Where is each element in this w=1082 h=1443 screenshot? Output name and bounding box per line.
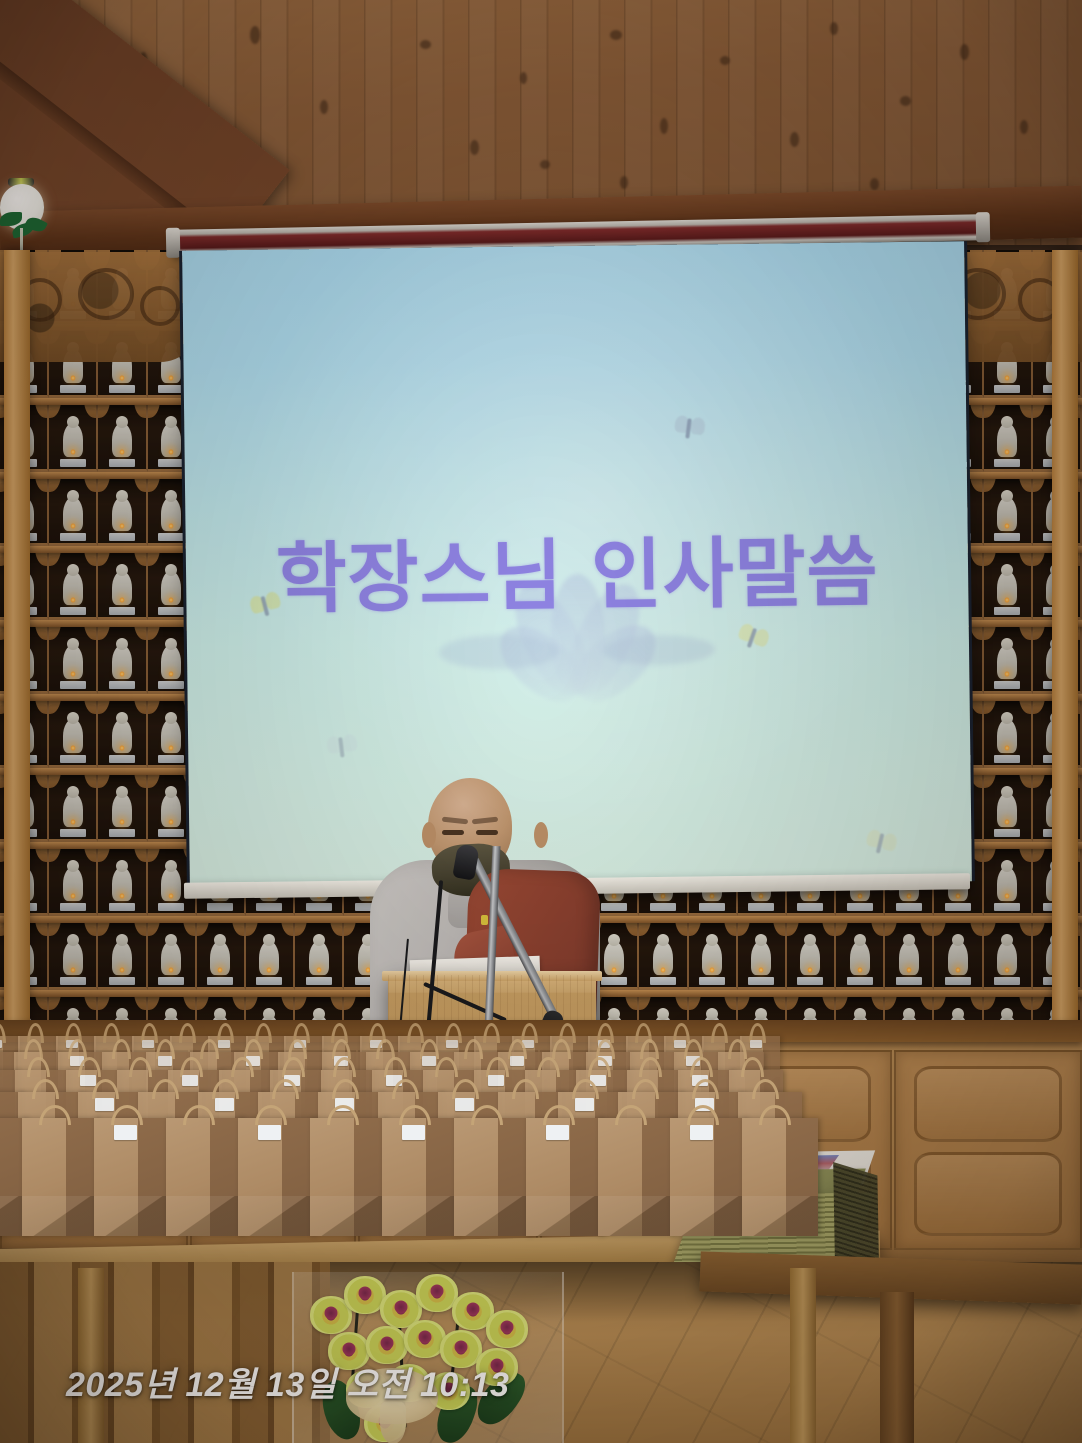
name-plaque bbox=[601, 903, 627, 911]
memorial-niche bbox=[197, 916, 246, 990]
name-plaque bbox=[256, 903, 282, 911]
wall-pillar-right bbox=[1052, 250, 1078, 1040]
candle-light-icon bbox=[119, 375, 124, 381]
name-plaque bbox=[109, 459, 135, 467]
candle-light-icon bbox=[956, 967, 961, 973]
candle-light-icon bbox=[119, 523, 124, 529]
name-plaque bbox=[109, 755, 135, 763]
slide-title: 학장스님 인사말씀 bbox=[185, 509, 968, 630]
name-plaque bbox=[158, 459, 184, 467]
name-plaque bbox=[256, 977, 282, 985]
memorial-niche bbox=[98, 620, 147, 694]
name-plaque bbox=[994, 829, 1020, 837]
memorial-niche bbox=[49, 842, 98, 916]
candle-light-icon bbox=[857, 967, 862, 973]
candle-light-icon bbox=[1005, 597, 1010, 603]
bag-name-label bbox=[258, 1125, 281, 1140]
bag-name-label bbox=[402, 1125, 425, 1140]
memorial-niche bbox=[984, 546, 1033, 620]
candle-light-icon bbox=[70, 745, 75, 751]
candle-light-icon bbox=[611, 967, 616, 973]
candle-light-icon bbox=[119, 745, 124, 751]
stack-side-edges bbox=[833, 1162, 879, 1272]
bag-name-label bbox=[750, 1040, 762, 1048]
name-plaque bbox=[109, 681, 135, 689]
bag-name-label bbox=[142, 1040, 154, 1048]
name-plaque bbox=[109, 829, 135, 837]
bag-bottom-fold bbox=[742, 1196, 818, 1236]
name-plaque bbox=[994, 533, 1020, 541]
candle-light-icon bbox=[611, 893, 616, 899]
bag-name-label bbox=[114, 1125, 137, 1140]
name-plaque bbox=[994, 681, 1020, 689]
gift-bag bbox=[526, 1118, 602, 1236]
gift-bag bbox=[598, 1118, 674, 1236]
memorial-niche bbox=[295, 916, 344, 990]
name-plaque bbox=[699, 977, 725, 985]
name-plaque bbox=[60, 977, 86, 985]
candle-light-icon bbox=[1005, 745, 1010, 751]
candle-light-icon bbox=[710, 893, 715, 899]
memorial-niche bbox=[984, 842, 1033, 916]
name-plaque bbox=[650, 903, 676, 911]
name-plaque bbox=[994, 385, 1020, 393]
candle-light-icon bbox=[119, 449, 124, 455]
candle-light-icon bbox=[906, 967, 911, 973]
name-plaque bbox=[207, 977, 233, 985]
candle-light-icon bbox=[1005, 893, 1010, 899]
memorial-niche bbox=[984, 916, 1033, 990]
name-plaque bbox=[60, 459, 86, 467]
memorial-niche bbox=[98, 842, 147, 916]
bag-name-label bbox=[422, 1056, 436, 1065]
memorial-niche bbox=[984, 620, 1033, 694]
candle-light-icon bbox=[119, 819, 124, 825]
name-plaque bbox=[60, 829, 86, 837]
bag-name-label bbox=[690, 1125, 713, 1140]
candle-light-icon bbox=[906, 893, 911, 899]
candle-light-icon bbox=[218, 967, 223, 973]
name-plaque bbox=[158, 903, 184, 911]
candle-light-icon bbox=[119, 597, 124, 603]
candle-light-icon bbox=[70, 967, 75, 973]
name-plaque bbox=[945, 977, 971, 985]
name-plaque bbox=[109, 533, 135, 541]
name-plaque bbox=[109, 903, 135, 911]
housing-end-cap-right bbox=[976, 212, 991, 242]
memorial-niche bbox=[98, 694, 147, 768]
gift-bag bbox=[238, 1118, 314, 1236]
candle-light-icon bbox=[660, 893, 665, 899]
name-plaque bbox=[306, 977, 332, 985]
memorial-niche bbox=[49, 398, 98, 472]
name-plaque bbox=[994, 977, 1020, 985]
bag-name-label bbox=[182, 1075, 198, 1086]
bag-name-label bbox=[674, 1040, 686, 1048]
gift-bag bbox=[742, 1118, 818, 1236]
candle-light-icon bbox=[857, 893, 862, 899]
bag-bottom-fold bbox=[310, 1196, 386, 1236]
bouquet-ribbon-tail bbox=[380, 1402, 406, 1443]
memorial-niche bbox=[49, 546, 98, 620]
name-plaque bbox=[650, 977, 676, 985]
name-plaque bbox=[207, 903, 233, 911]
gift-bag bbox=[670, 1118, 746, 1236]
memorial-niche bbox=[98, 916, 147, 990]
candle-light-icon bbox=[70, 819, 75, 825]
candle-light-icon bbox=[1005, 967, 1010, 973]
bag-bottom-fold bbox=[238, 1196, 314, 1236]
carved-crest-left bbox=[0, 252, 200, 362]
memorial-niche bbox=[836, 916, 885, 990]
candle-light-icon bbox=[759, 967, 764, 973]
memorial-niche bbox=[885, 916, 934, 990]
name-plaque bbox=[109, 977, 135, 985]
name-plaque bbox=[699, 903, 725, 911]
bag-name-label bbox=[455, 1098, 474, 1111]
gift-bag bbox=[454, 1118, 530, 1236]
memorial-niche bbox=[49, 768, 98, 842]
bag-name-label bbox=[488, 1075, 504, 1086]
housing-end-cap-left bbox=[166, 228, 181, 258]
name-plaque bbox=[847, 903, 873, 911]
candle-light-icon bbox=[169, 745, 174, 751]
bag-name-label bbox=[95, 1098, 114, 1111]
bag-bottom-fold bbox=[454, 1196, 530, 1236]
memorial-niche bbox=[49, 472, 98, 546]
name-plaque bbox=[60, 385, 86, 393]
name-plaque bbox=[896, 903, 922, 911]
name-plaque bbox=[797, 977, 823, 985]
name-plaque bbox=[994, 607, 1020, 615]
bag-name-label bbox=[546, 1125, 569, 1140]
memorial-niche bbox=[49, 620, 98, 694]
candle-light-icon bbox=[169, 597, 174, 603]
memorial-niche bbox=[787, 916, 836, 990]
memorial-niche bbox=[984, 768, 1033, 842]
name-plaque bbox=[306, 903, 332, 911]
candle-light-icon bbox=[70, 449, 75, 455]
candle-light-icon bbox=[1005, 523, 1010, 529]
bag-name-label bbox=[80, 1075, 96, 1086]
name-plaque bbox=[158, 607, 184, 615]
cabinet-door bbox=[894, 1050, 1082, 1250]
candle-light-icon bbox=[169, 671, 174, 677]
gift-table-leg bbox=[78, 1268, 104, 1443]
name-plaque bbox=[748, 903, 774, 911]
name-plaque bbox=[60, 607, 86, 615]
name-plaque bbox=[158, 977, 184, 985]
name-plaque bbox=[158, 533, 184, 541]
memorial-niche bbox=[98, 472, 147, 546]
gift-bag-field bbox=[0, 1036, 760, 1266]
candle-light-icon bbox=[759, 893, 764, 899]
candle-light-icon bbox=[70, 523, 75, 529]
bag-bottom-fold bbox=[382, 1196, 458, 1236]
candle-light-icon bbox=[808, 893, 813, 899]
memorial-niche bbox=[934, 916, 983, 990]
candle-light-icon bbox=[119, 967, 124, 973]
bag-name-label bbox=[218, 1040, 230, 1048]
bag-name-label bbox=[446, 1040, 458, 1048]
candle-light-icon bbox=[1005, 671, 1010, 677]
memorial-niche bbox=[246, 916, 295, 990]
candle-light-icon bbox=[956, 893, 961, 899]
name-plaque bbox=[945, 903, 971, 911]
timestamp-overlay: 2025년 12월 13일 오전 10:13 bbox=[66, 1357, 509, 1406]
bag-bottom-fold bbox=[526, 1196, 602, 1236]
lotus-lantern bbox=[0, 178, 46, 240]
gift-bag bbox=[310, 1118, 386, 1236]
gift-bag bbox=[166, 1118, 242, 1236]
memorial-niche bbox=[689, 916, 738, 990]
candle-light-icon bbox=[70, 375, 75, 381]
name-plaque bbox=[158, 829, 184, 837]
candle-light-icon bbox=[119, 671, 124, 677]
candle-light-icon bbox=[808, 967, 813, 973]
bag-bottom-fold bbox=[22, 1196, 98, 1236]
gift-bag bbox=[94, 1118, 170, 1236]
bag-name-label bbox=[510, 1056, 524, 1065]
candle-light-icon bbox=[169, 449, 174, 455]
orchid-flower bbox=[486, 1310, 528, 1348]
candle-light-icon bbox=[169, 375, 174, 381]
wall-pillar-left bbox=[4, 250, 30, 1040]
candle-light-icon bbox=[267, 967, 272, 973]
candle-light-icon bbox=[660, 967, 665, 973]
candle-light-icon bbox=[169, 893, 174, 899]
candle-light-icon bbox=[169, 819, 174, 825]
name-plaque bbox=[158, 755, 184, 763]
name-plaque bbox=[158, 681, 184, 689]
monk-ear-right bbox=[534, 822, 548, 848]
gift-bag bbox=[22, 1118, 98, 1236]
candle-light-icon bbox=[70, 893, 75, 899]
name-plaque bbox=[158, 385, 184, 393]
bag-name-label bbox=[575, 1098, 594, 1111]
bag-name-label bbox=[215, 1098, 234, 1111]
memorial-niche bbox=[639, 916, 688, 990]
candle-light-icon bbox=[169, 967, 174, 973]
memorial-niche bbox=[984, 398, 1033, 472]
photo-canvas: 학장스님 인사말씀 bbox=[0, 0, 1082, 1443]
memorial-niche bbox=[98, 398, 147, 472]
gift-bag bbox=[382, 1118, 458, 1236]
bag-bottom-fold bbox=[598, 1196, 674, 1236]
memorial-niche bbox=[148, 916, 197, 990]
candle-light-icon bbox=[1005, 819, 1010, 825]
bag-bottom-fold bbox=[166, 1196, 242, 1236]
candle-light-icon bbox=[1005, 449, 1010, 455]
name-plaque bbox=[601, 977, 627, 985]
memorial-niche bbox=[98, 546, 147, 620]
front-railing bbox=[0, 1262, 330, 1443]
monk-ear-left bbox=[422, 822, 436, 848]
side-table-leg bbox=[880, 1292, 914, 1443]
name-plaque bbox=[896, 977, 922, 985]
name-plaque bbox=[994, 903, 1020, 911]
name-plaque bbox=[994, 755, 1020, 763]
bag-bottom-fold bbox=[94, 1196, 170, 1236]
name-plaque bbox=[60, 681, 86, 689]
memorial-niche bbox=[49, 694, 98, 768]
memorial-niche bbox=[984, 472, 1033, 546]
memorial-niche bbox=[98, 768, 147, 842]
candle-light-icon bbox=[70, 671, 75, 677]
name-plaque bbox=[994, 459, 1020, 467]
candle-light-icon bbox=[169, 523, 174, 529]
candle-light-icon bbox=[1005, 375, 1010, 381]
candle-light-icon bbox=[70, 597, 75, 603]
name-plaque bbox=[797, 903, 823, 911]
name-plaque bbox=[109, 607, 135, 615]
name-plaque bbox=[748, 977, 774, 985]
name-plaque bbox=[60, 755, 86, 763]
mic-cable-clip bbox=[481, 915, 488, 925]
name-plaque bbox=[109, 385, 135, 393]
candle-light-icon bbox=[710, 967, 715, 973]
bag-bottom-fold bbox=[670, 1196, 746, 1236]
name-plaque bbox=[60, 533, 86, 541]
name-plaque bbox=[847, 977, 873, 985]
memorial-niche bbox=[738, 916, 787, 990]
candle-light-icon bbox=[316, 967, 321, 973]
gift-table-leg bbox=[790, 1268, 816, 1443]
name-plaque bbox=[60, 903, 86, 911]
bag-name-label bbox=[158, 1056, 172, 1065]
candle-light-icon bbox=[119, 893, 124, 899]
memorial-niche bbox=[984, 694, 1033, 768]
memorial-niche bbox=[49, 916, 98, 990]
